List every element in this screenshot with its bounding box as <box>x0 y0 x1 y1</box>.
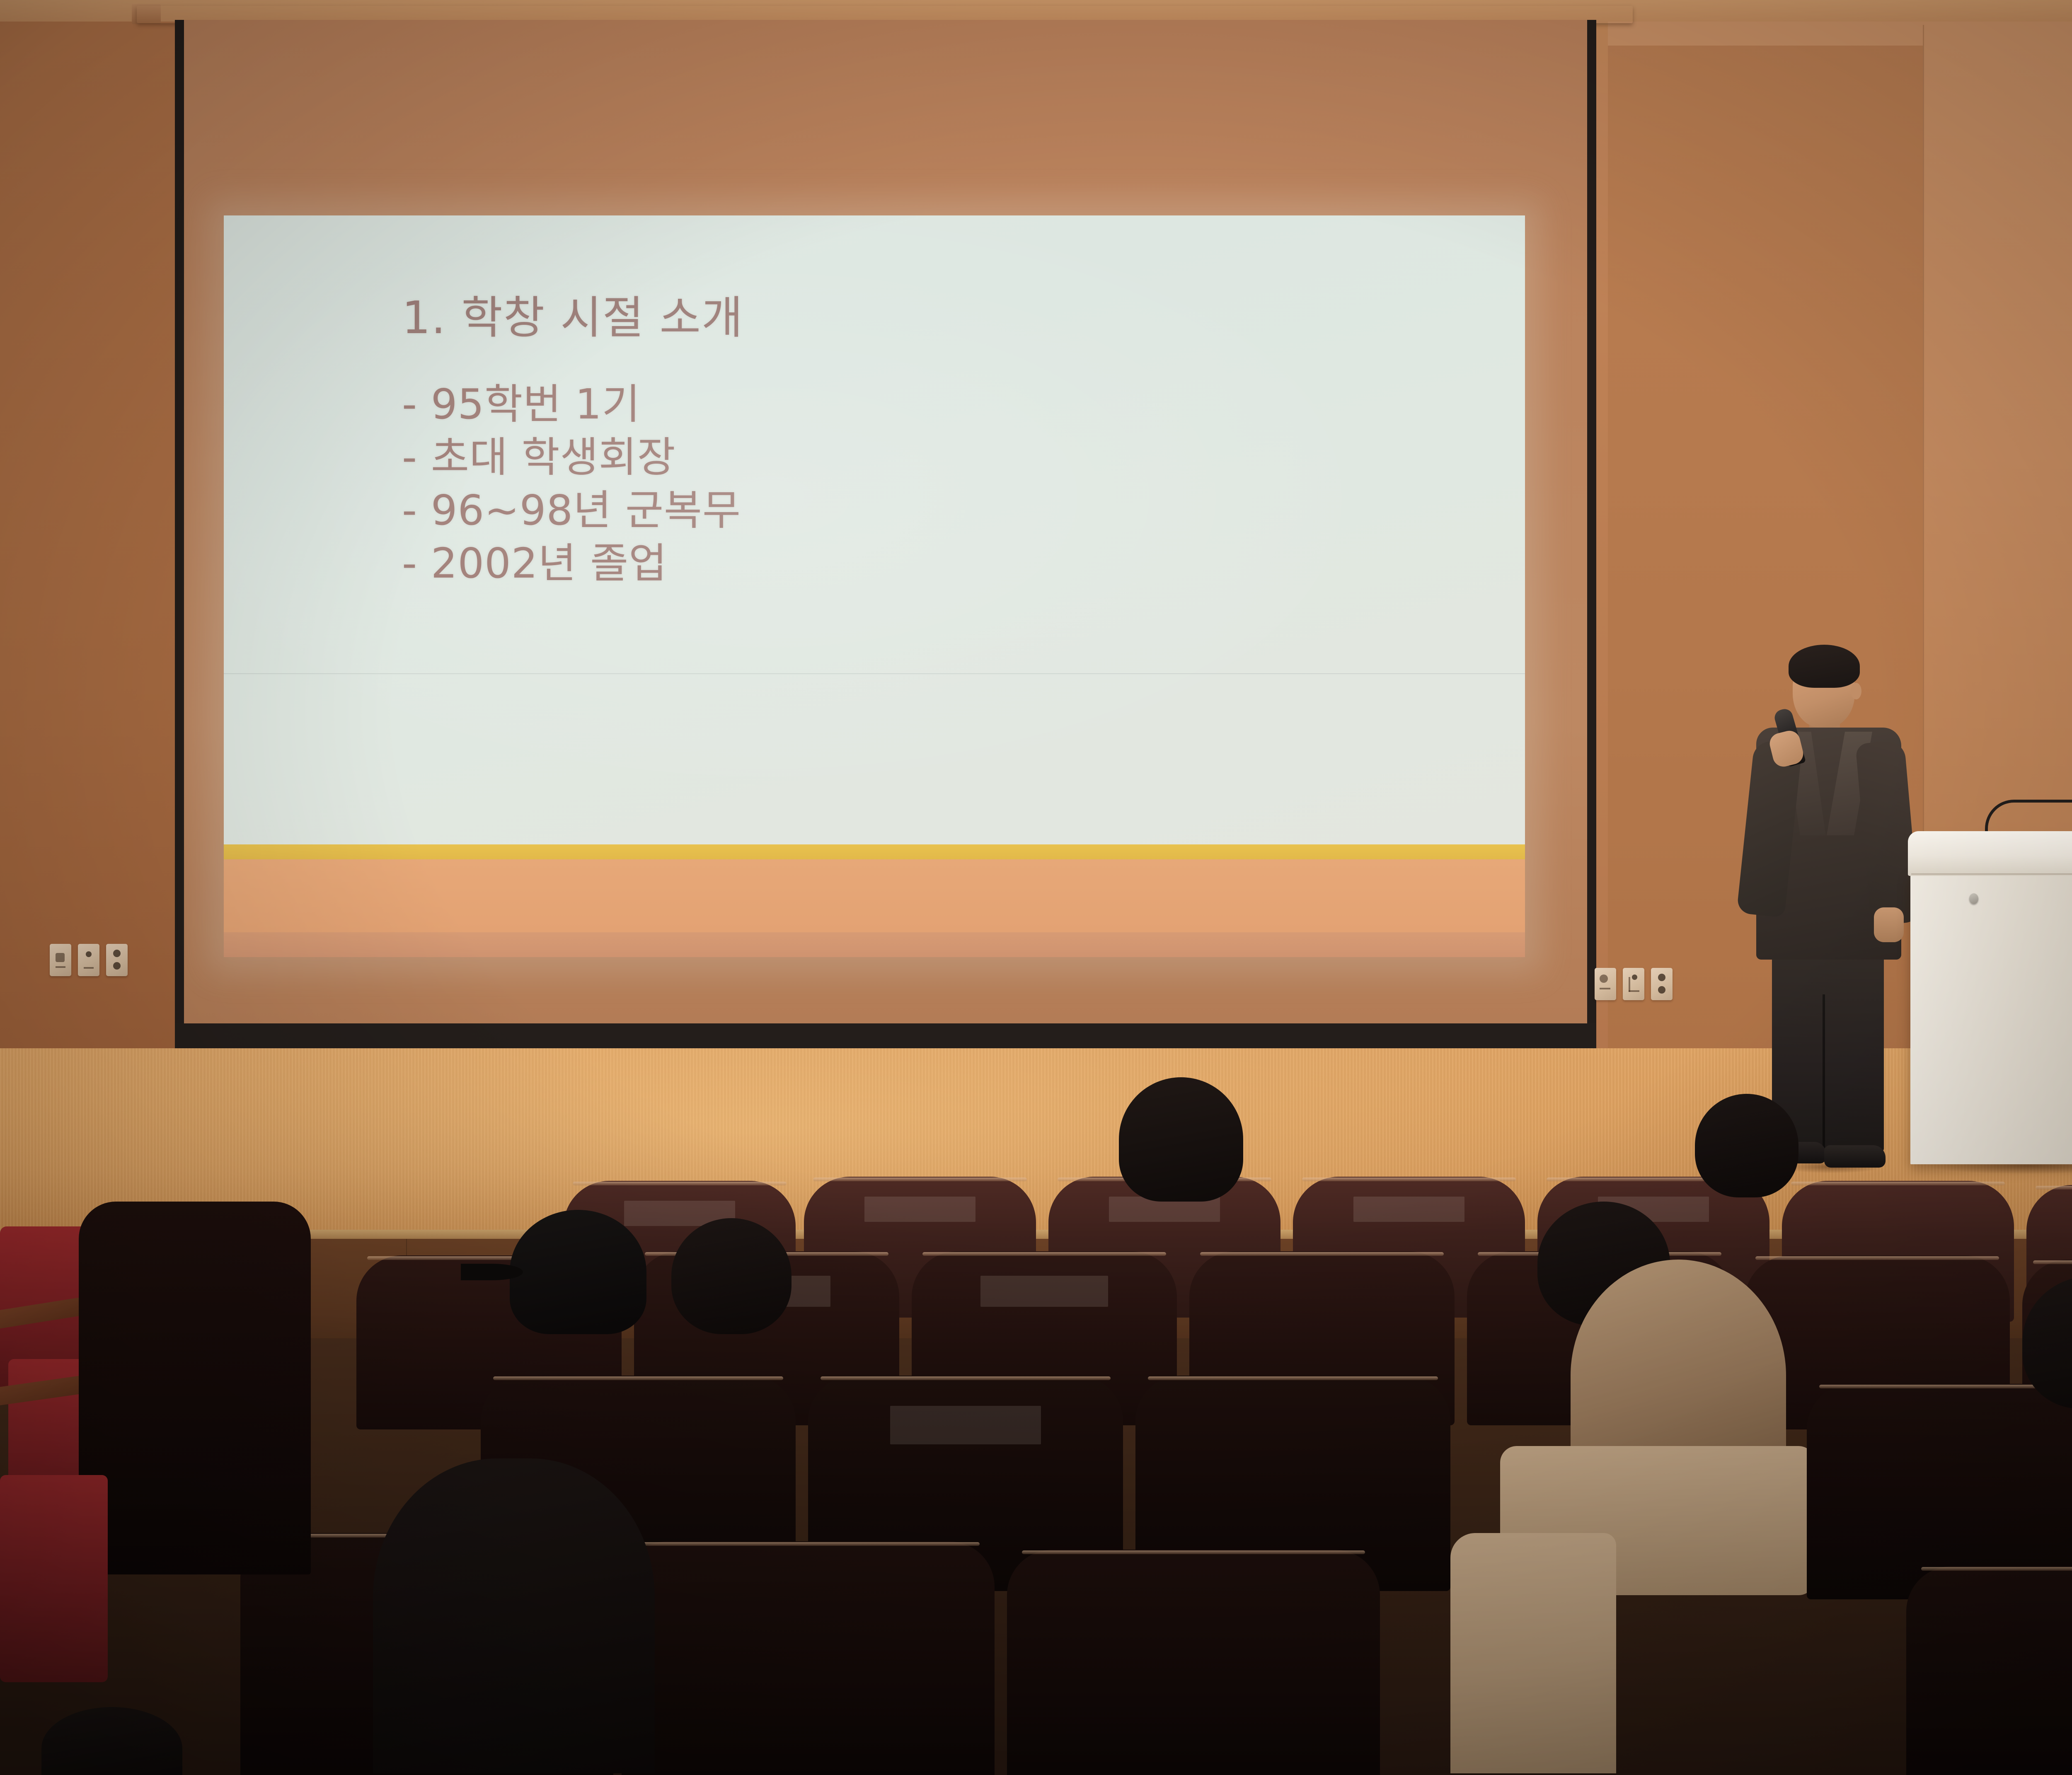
seat-reservation-label <box>864 1197 976 1222</box>
lectern-cabinet <box>1910 874 2072 1164</box>
light-switch-plate[interactable] <box>1595 968 1616 1000</box>
audience-head <box>1695 1094 1798 1197</box>
jack-plate[interactable] <box>78 944 99 976</box>
seat[interactable] <box>79 1202 311 1574</box>
audience-head <box>1119 1077 1243 1202</box>
slide-bullet-item: - 95학번 1기 <box>402 381 741 428</box>
jack-plate[interactable] <box>1623 968 1644 1000</box>
power-outlet-plate[interactable] <box>1651 968 1673 1000</box>
slide-orange-band <box>224 859 1525 932</box>
slide-gold-accent-band <box>224 844 1525 859</box>
slide-bullet-item: - 2002년 졸업 <box>402 540 741 587</box>
seat-reservation-label <box>980 1276 1108 1307</box>
slide-bullet-list: - 95학번 1기 - 초대 학생회장 - 96~98년 군복무 - 2002년… <box>402 381 741 587</box>
lectern-lock-icon[interactable] <box>1969 893 1978 904</box>
presenter-hair <box>1789 645 1860 688</box>
screen-weight-bar <box>175 1023 1596 1049</box>
presenter-ear <box>1851 683 1861 699</box>
seat[interactable] <box>622 1541 995 1775</box>
seat-reservation-label <box>1353 1197 1465 1222</box>
slide-title: 1. 학창 시절 소개 <box>402 282 743 346</box>
cap-brim-icon <box>461 1264 523 1280</box>
wall-plate-group-left <box>50 944 128 976</box>
power-outlet-plate[interactable] <box>106 944 128 976</box>
lectern-top-cover <box>1908 831 2072 876</box>
sherpa-fleece-shoulder <box>1450 1533 1616 1773</box>
projected-slide: 1. 학창 시절 소개 - 95학번 1기 - 초대 학생회장 - 96~98년… <box>224 215 1525 957</box>
lectern-seam <box>1911 873 2072 875</box>
seat-red[interactable] <box>0 1475 108 1682</box>
person-foreground-left <box>373 1458 655 1773</box>
seat-reservation-label <box>890 1406 1041 1445</box>
light-switch-plate[interactable] <box>50 944 71 976</box>
presenter-hand-right <box>1874 907 1904 942</box>
slide-bottom-band <box>224 932 1525 957</box>
lectern: evel <box>1906 796 2072 1181</box>
screen-border-right <box>1587 20 1596 1048</box>
audience-head-capped <box>510 1210 646 1334</box>
seat[interactable] <box>1906 1566 2072 1775</box>
auditorium-scene: 1. 학창 시절 소개 - 95학번 1기 - 초대 학생회장 - 96~98년… <box>0 0 2072 1775</box>
seat[interactable] <box>1007 1550 1380 1775</box>
presenter-shoe-right <box>1824 1145 1886 1168</box>
screen-border-left <box>175 20 184 1048</box>
slide-bullet-item: - 초대 학생회장 <box>402 434 741 481</box>
wall-plate-group-right <box>1595 968 1673 1000</box>
slide-divider-rule <box>224 673 1525 674</box>
slide-bullet-item: - 96~98년 군복무 <box>402 487 741 534</box>
presenter-leg-seam <box>1823 994 1825 1148</box>
audience-head <box>671 1218 792 1334</box>
